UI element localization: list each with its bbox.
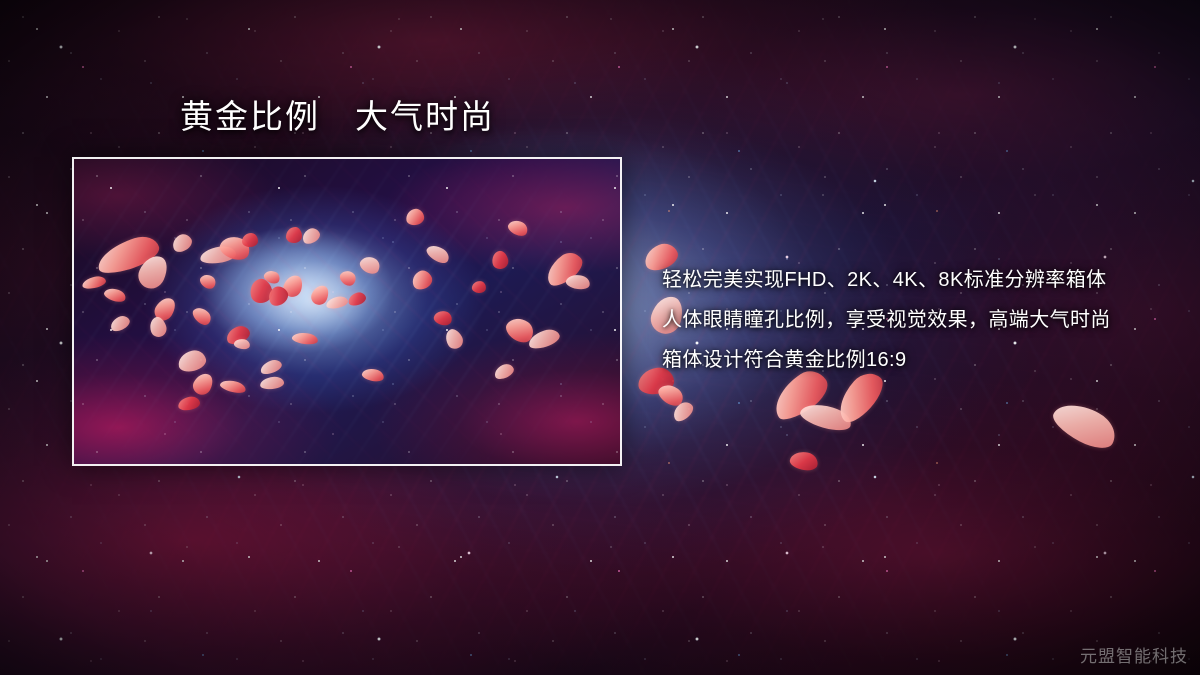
slide-title: 黄金比例 大气时尚	[180, 99, 495, 136]
body-text-line: 箱体设计符合黄金比例16:9	[662, 340, 1182, 380]
presentation-slide: 黄金比例 大气时尚	[0, 0, 1200, 675]
panel-nebula-filaments	[72, 157, 622, 466]
body-text-line: 人体眼睛瞳孔比例，享受视觉效果，高端大气时尚	[662, 300, 1182, 340]
body-text-line: 轻松完美实现FHD、2K、4K、8K标准分辨率箱体	[662, 260, 1182, 300]
image-panel[interactable]	[72, 157, 622, 466]
watermark: 元盟智能科技	[1080, 642, 1188, 667]
body-text-block: 轻松完美实现FHD、2K、4K、8K标准分辨率箱体 人体眼睛瞳孔比例，享受视觉效…	[662, 260, 1182, 380]
